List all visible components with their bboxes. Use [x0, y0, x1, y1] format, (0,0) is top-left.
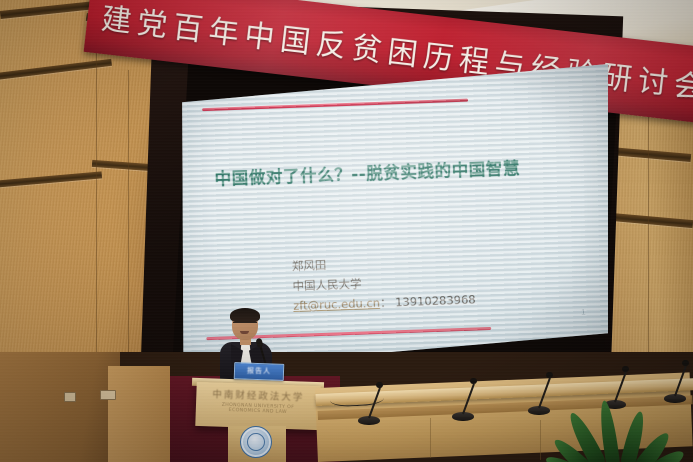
podium-org-name: 中南财经政法大学 — [204, 386, 312, 404]
speaker-name-plate: 报告人 — [234, 362, 285, 381]
wall-socket — [100, 390, 116, 400]
wall-socket — [64, 392, 76, 402]
presenter-email: zft@ruc.edu.cn — [293, 296, 380, 313]
table-panel-seam — [540, 420, 541, 460]
potted-plant — [559, 370, 679, 462]
stage-left-wall — [0, 352, 120, 462]
speaker-hair — [230, 308, 260, 323]
glasses-icon — [233, 322, 257, 328]
presenter-phone: 13910283968 — [395, 293, 476, 310]
podium: 中南财经政法大学 ZHONGNAN UNIVERSITY OF ECONOMIC… — [195, 382, 320, 430]
conference-photo-scene: 建党百年中国反贫困历程与经验研讨会 中国做对了什么？--脱贫实践的中国智慧 郑风… — [0, 0, 693, 462]
table-panel-seam — [430, 418, 431, 458]
mic-head — [546, 372, 553, 378]
contact-separator: ： — [380, 296, 392, 310]
name-plate-label: 报告人 — [235, 363, 283, 380]
mic-head — [470, 378, 477, 384]
podium-org-subname: ZHONGNAN UNIVERSITY OF ECONOMICS AND LAW — [206, 402, 310, 416]
slide-title: 中国做对了什么？--脱贫实践的中国智慧 — [214, 155, 545, 192]
university-seal-icon — [240, 426, 272, 458]
slide-byline: 郑风田 中国人民大学 zft@ruc.edu.cn： 13910283968 — [291, 246, 583, 317]
slide-page-number: 1 — [581, 308, 586, 317]
slide-top-rule — [202, 99, 468, 112]
mic-head — [376, 382, 383, 388]
stage-left-wall-panel — [108, 366, 170, 462]
mic-head — [682, 360, 689, 366]
